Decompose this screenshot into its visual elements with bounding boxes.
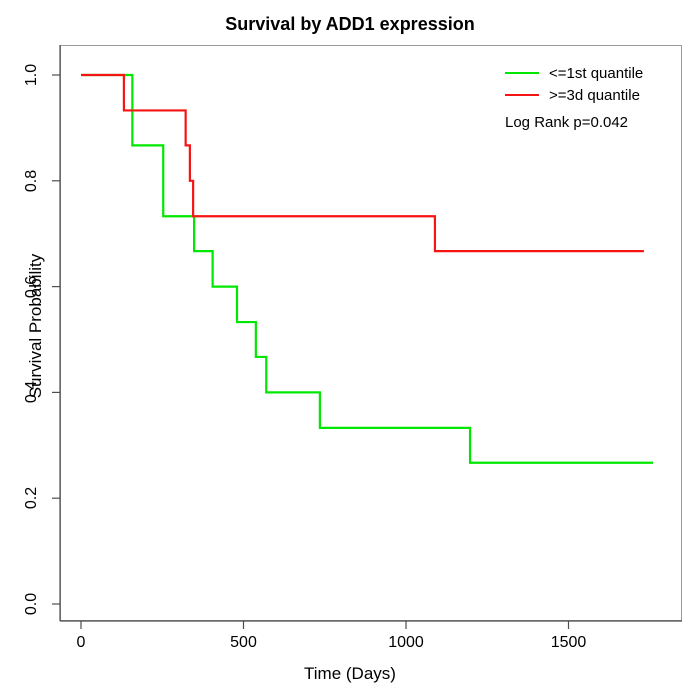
legend: <=1st quantile >=3d quantile Log Rank p=… bbox=[505, 62, 685, 131]
y-tick-label-0.8: 0.8 bbox=[23, 161, 41, 201]
legend-swatch-green bbox=[505, 72, 539, 74]
y-tick-label-0.6: 0.6 bbox=[23, 267, 41, 307]
legend-swatch-red bbox=[505, 94, 539, 96]
x-tick-label-0: 0 bbox=[51, 634, 111, 652]
legend-label-third-quantile: >=3d quantile bbox=[549, 87, 640, 104]
x-tick-label-1500: 1500 bbox=[539, 634, 599, 652]
log-rank-annotation: Log Rank p=0.042 bbox=[505, 114, 685, 131]
series-paths bbox=[81, 75, 653, 463]
legend-item-third-quantile: >=3d quantile bbox=[505, 84, 685, 106]
axis-ticks bbox=[52, 45, 682, 629]
y-tick-label-1.0: 1.0 bbox=[23, 55, 41, 95]
legend-label-first-quantile: <=1st quantile bbox=[549, 65, 643, 82]
y-tick-label-0.4: 0.4 bbox=[23, 372, 41, 412]
legend-item-first-quantile: <=1st quantile bbox=[505, 62, 685, 84]
series-path-first-quantile bbox=[81, 75, 653, 463]
x-tick-label-1000: 1000 bbox=[376, 634, 436, 652]
y-tick-label-0.2: 0.2 bbox=[23, 478, 41, 518]
y-tick-label-0.0: 0.0 bbox=[23, 584, 41, 624]
x-tick-label-500: 500 bbox=[214, 634, 274, 652]
survival-plot-figure: Survival by ADD1 expression Survival Pro… bbox=[0, 0, 700, 700]
